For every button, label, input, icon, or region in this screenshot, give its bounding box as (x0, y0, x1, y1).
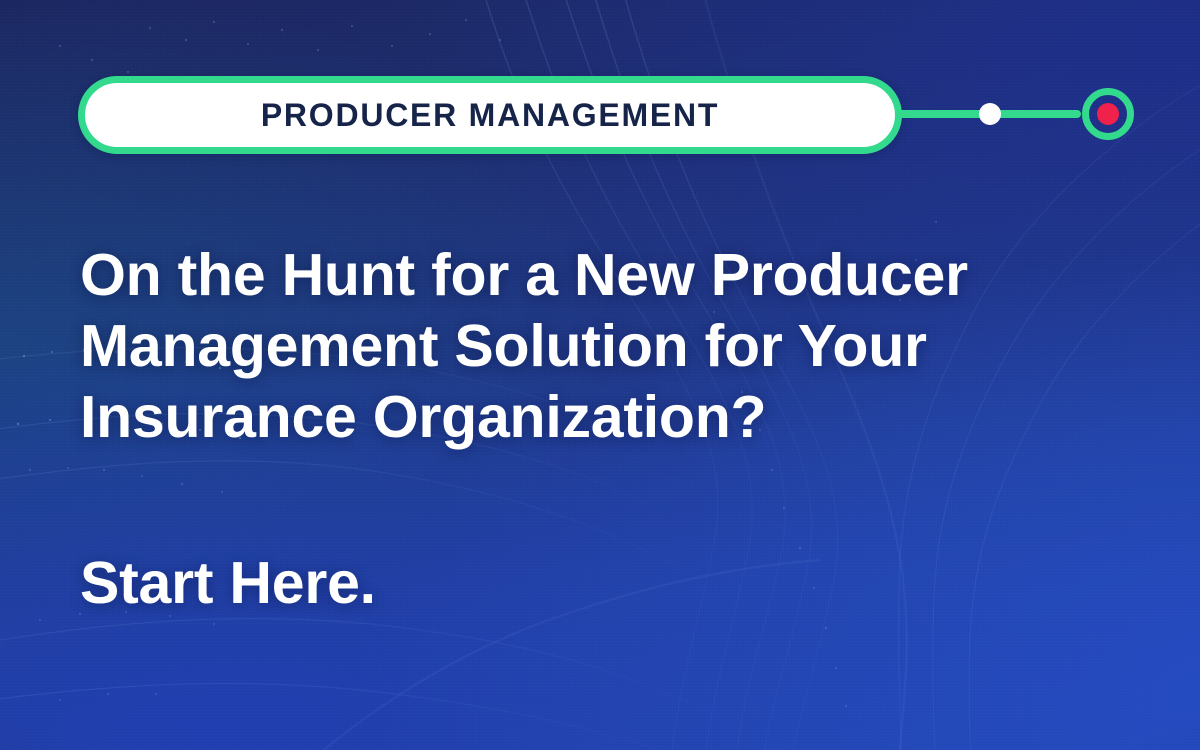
connector-midpoint-dot-icon (979, 103, 1001, 125)
page-title: On the Hunt for a New Producer Managemen… (80, 240, 1040, 453)
eyebrow-badge-row: PRODUCER MANAGEMENT (78, 76, 902, 154)
headline-line-1: On the Hunt for a New Producer (80, 240, 1040, 311)
hero-banner: PRODUCER MANAGEMENT On the Hunt for a Ne… (0, 0, 1200, 750)
copy-block: On the Hunt for a New Producer Managemen… (80, 240, 1040, 619)
headline-line-2: Management Solution for Your (80, 311, 1040, 382)
headline-line-3: Insurance Organization? (80, 382, 1040, 453)
category-badge-label: PRODUCER MANAGEMENT (261, 99, 719, 131)
category-badge[interactable]: PRODUCER MANAGEMENT (78, 76, 902, 154)
cta-text: Start Here. (80, 548, 1040, 619)
target-ring-icon (1082, 88, 1134, 140)
target-core-dot-icon (1097, 103, 1119, 125)
